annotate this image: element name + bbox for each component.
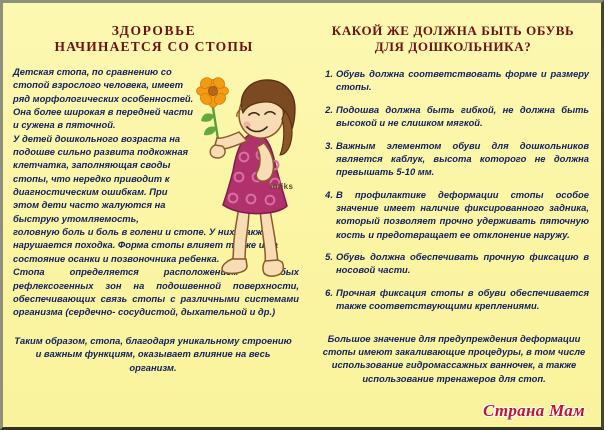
right-column: КАКОЙ ЖЕ ДОЛЖНА БЫТЬ ОБУВЬ ДЛЯ ДОШКОЛЬНИ… [305, 3, 601, 427]
left-column-body: Детская стопа, по сравнению со стопой вз… [13, 65, 299, 374]
right-heading-line-2: ДЛЯ ДОШКОЛЬНИКА? [319, 39, 587, 55]
right-column-heading: КАКОЙ ЖЕ ДОЛЖНА БЫТЬ ОБУВЬ ДЛЯ ДОШКОЛЬНИ… [319, 23, 587, 55]
list-item: Прочная фиксация стопы в обуви обеспечив… [319, 286, 589, 312]
left-paragraph-3: головную боль и боль в голени и стопе. У… [13, 225, 299, 265]
list-item: Обувь должна соответствовать форме и раз… [319, 67, 589, 93]
list-item: Обувь должна обеспечивать прочную фиксац… [319, 250, 589, 276]
right-heading-line-1: КАКОЙ ЖЕ ДОЛЖНА БЫТЬ ОБУВЬ [319, 23, 587, 39]
left-column: ЗДОРОВЬЕ НАЧИНАЕТСЯ СО СТОПЫ Детская сто… [3, 3, 305, 427]
right-footer-paragraph: Большое значение для предупреждения дефо… [319, 332, 589, 386]
left-heading-line-1: ЗДОРОВЬЕ [15, 23, 293, 39]
poster-columns: ЗДОРОВЬЕ НАЧИНАЕТСЯ СО СТОПЫ Детская сто… [3, 3, 601, 427]
list-item: В профилактике деформации стопы особое з… [319, 188, 589, 241]
left-column-heading: ЗДОРОВЬЕ НАЧИНАЕТСЯ СО СТОПЫ [15, 23, 293, 55]
list-item: Важным элементом обуви для дошкольников … [319, 139, 589, 179]
right-column-body: Обувь должна соответствовать форме и раз… [319, 67, 589, 385]
shoe-requirements-list: Обувь должна соответствовать форме и раз… [319, 67, 589, 313]
left-paragraph-4: Стопа определяется расположением особых … [13, 265, 299, 318]
left-paragraph-1: Детская стопа, по сравнению со стопой вз… [13, 65, 195, 132]
left-paragraph-2: У детей дошкольного возраста на подошве … [13, 132, 195, 225]
poster-canvas: ЗДОРОВЬЕ НАЧИНАЕТСЯ СО СТОПЫ Детская сто… [0, 0, 604, 430]
left-closing-paragraph: Таким образом, стопа, благодаря уникальн… [13, 334, 293, 375]
artist-signature: lutiks [270, 182, 293, 191]
watermark-strana-mam: Страна Мам [483, 401, 585, 421]
left-heading-line-2: НАЧИНАЕТСЯ СО СТОПЫ [15, 39, 293, 55]
list-item: Подошва должна быть гибкой, не должна бы… [319, 103, 589, 129]
